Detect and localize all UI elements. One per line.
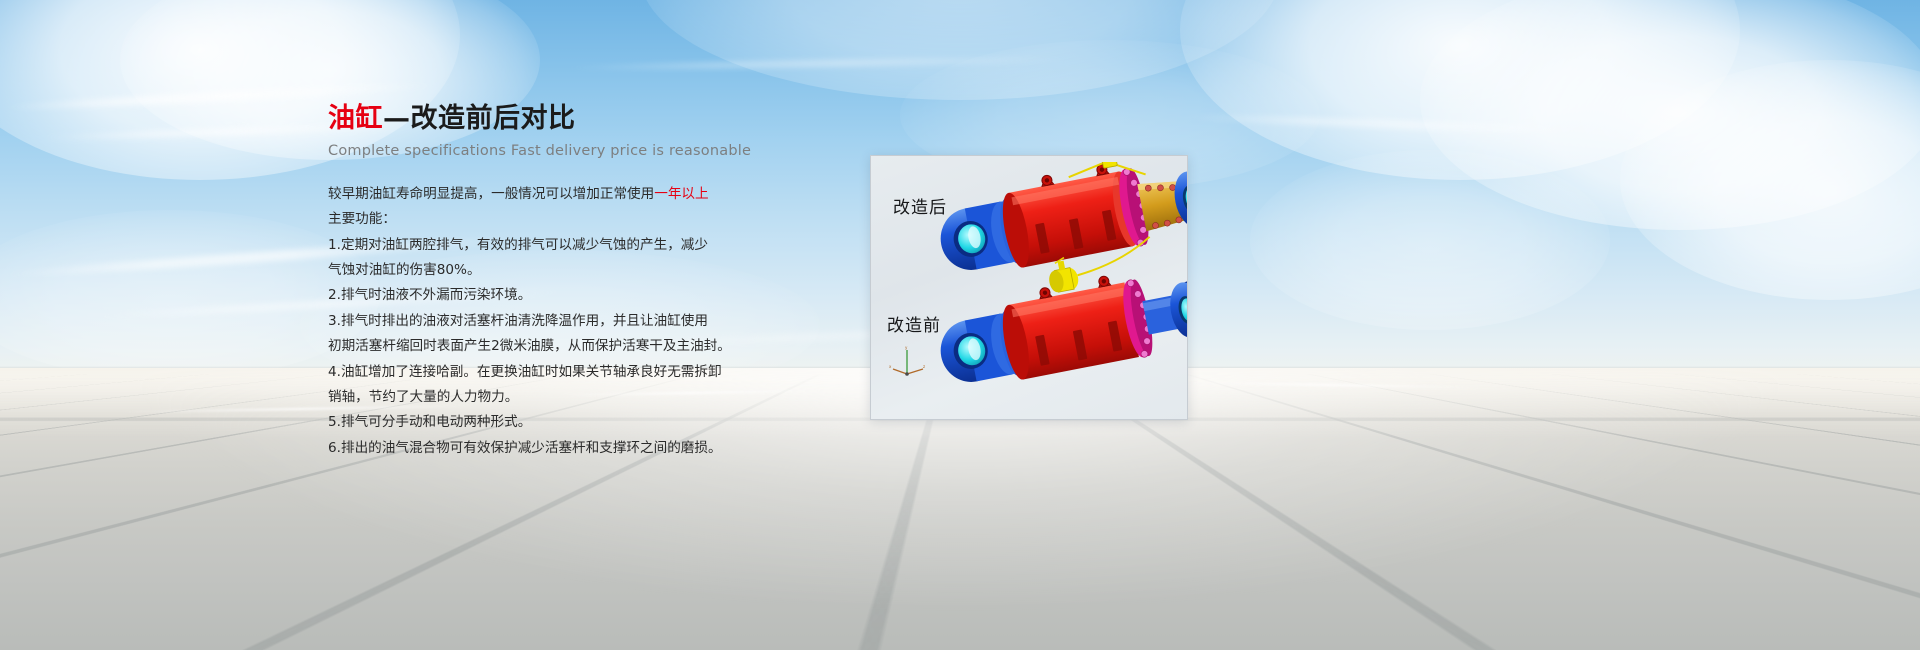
feature-line: 气蚀对油缸的伤害80%。 [328,258,848,283]
feature-line: 2.排气时油液不外漏而污染环境。 [328,283,848,308]
feature-line: 3.排气时排出的油液对活塞杆油清洗降温作用，并且让油缸使用 [328,309,848,334]
cloud [640,0,1280,100]
feature-text-block: 较早期油缸寿命明显提高，一般情况可以增加正常使用一年以上 主要功能： 1.定期对… [328,182,848,461]
cloud [1180,0,1740,180]
lead-line-text: 较早期油缸寿命明显提高，一般情况可以增加正常使用 [328,186,654,202]
page-title: 油缸—改造前后对比 [328,104,848,134]
lead-line: 较早期油缸寿命明显提高，一般情况可以增加正常使用一年以上 [328,182,848,207]
cylinder-comparison-panel: 改造后 改造前 y x z [870,155,1188,420]
svg-text:y: y [905,345,908,350]
cylinder-assembly-before [909,274,1188,420]
promo-banner: 油缸—改造前后对比 Complete specifications Fast d… [0,0,1920,650]
cloud [1620,60,1920,300]
lead-line-highlight: 一年以上 [654,186,708,202]
feature-line: 销轴，节约了大量的人力物力。 [328,385,848,410]
page-subtitle: Complete specifications Fast delivery pr… [328,143,848,159]
text-column: 油缸—改造前后对比 Complete specifications Fast d… [328,104,848,461]
cloud [1250,150,1610,330]
features-heading: 主要功能： [328,207,848,232]
svg-text:x: x [889,364,892,369]
title-rest: —改造前后对比 [383,103,576,134]
cloud [1420,0,1920,230]
cloud-streak [1180,113,1600,136]
cloud [0,210,380,380]
feature-line: 4.油缸增加了连接哈副。在更换油缸时如果关节轴承良好无需拆卸 [328,360,848,385]
cloud-streak [560,55,1080,71]
title-accent: 油缸 [328,103,383,134]
feature-line: 5.排气可分手动和电动两种形式。 [328,410,848,435]
feature-line: 6.排出的油气混合物可有效保护减少活塞杆和支撑环之间的磨损。 [328,436,848,461]
feature-line: 初期活塞杆缩回时表面产生2微米油膜，从而保护活寒干及主油封。 [328,334,848,359]
feature-line: 1.定期对油缸两腔排气，有效的排气可以减少气蚀的产生，减少 [328,233,848,258]
